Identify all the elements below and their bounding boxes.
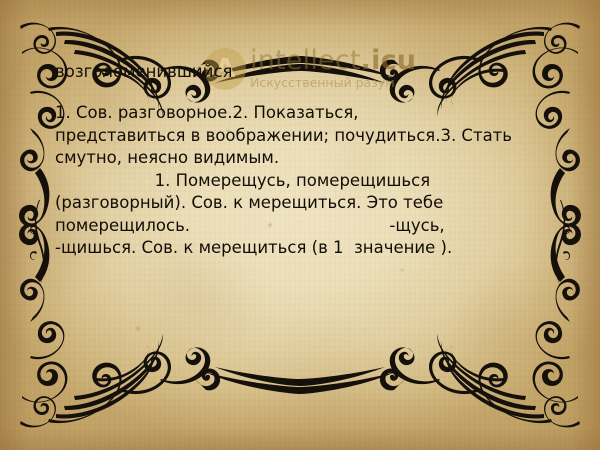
entry-definition-1: 1. Сов. разговорное.2. Показаться, предс… (55, 102, 555, 170)
entry-content: возголоменившийся 1. Сов. разговорное.2.… (55, 62, 555, 260)
entry-definition-2: 1. Померещусь, померещишься (разговорный… (55, 170, 555, 260)
dictionary-card: A intellect.icu Искусственный разум возг… (0, 0, 600, 450)
entry-headword: возголоменившийся (55, 62, 555, 82)
